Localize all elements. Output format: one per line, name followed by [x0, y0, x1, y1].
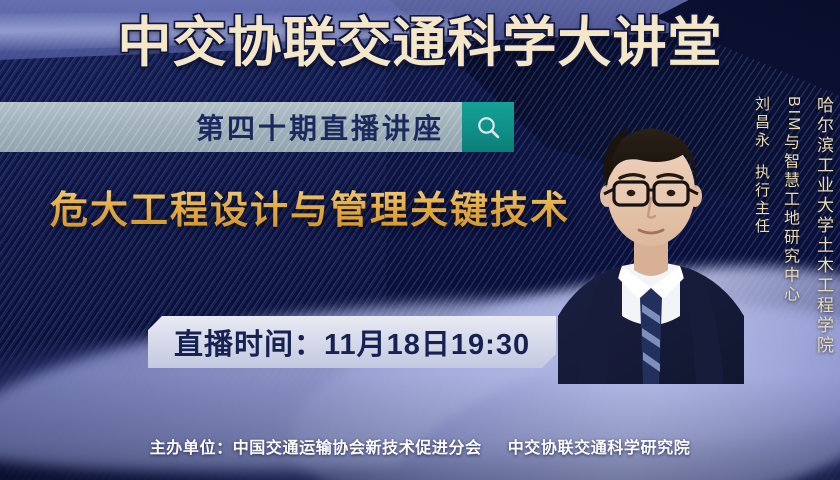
speaker-portrait-illustration: [556, 84, 746, 384]
footer-organizer: 主办单位：中国交通运输协会新技术促进分会: [150, 440, 482, 457]
speaker-center-latin: BIM: [783, 96, 804, 133]
live-time-text: 直播时间：11月18日19:30: [174, 321, 530, 363]
speaker-credits: 刘昌永 执行主任 BIM与智慧工地研究中心 哈尔滨工业大学土木工程学院: [751, 96, 834, 356]
speaker-role: 执行主任: [751, 164, 771, 236]
speaker-portrait: [556, 84, 746, 384]
speaker-name-column: 刘昌永 执行主任: [751, 96, 771, 236]
lecture-subject-title: 危大工程设计与管理关键技术: [50, 186, 570, 236]
speaker-name: 刘昌永: [751, 96, 771, 150]
episode-banner-bar: 第四十期直播讲座: [0, 102, 462, 152]
live-lecture-poster: 中交协联交通科学大讲堂 第四十期直播讲座 危大工程设计与管理关键技术 直播时间：…: [0, 0, 840, 480]
speaker-center-cjk: 与智慧工地研究中心: [781, 133, 798, 304]
page-title: 中交协联交通科学大讲堂: [0, 12, 840, 74]
search-icon: [475, 114, 502, 141]
episode-banner: 第四十期直播讲座: [0, 102, 514, 152]
background-bottom-fade: [0, 374, 840, 480]
live-time-badge: 直播时间：11月18日19:30: [148, 316, 556, 368]
search-button[interactable]: [462, 102, 514, 152]
episode-label: 第四十期直播讲座: [196, 107, 444, 147]
speaker-school: 哈尔滨工业大学土木工程学院: [812, 96, 834, 356]
speaker-center: BIM与智慧工地研究中心: [779, 96, 804, 304]
footer-organizer-second: 中交协联交通科学研究院: [508, 440, 691, 457]
footer: 主办单位：中国交通运输协会新技术促进分会中交协联交通科学研究院: [0, 434, 840, 458]
